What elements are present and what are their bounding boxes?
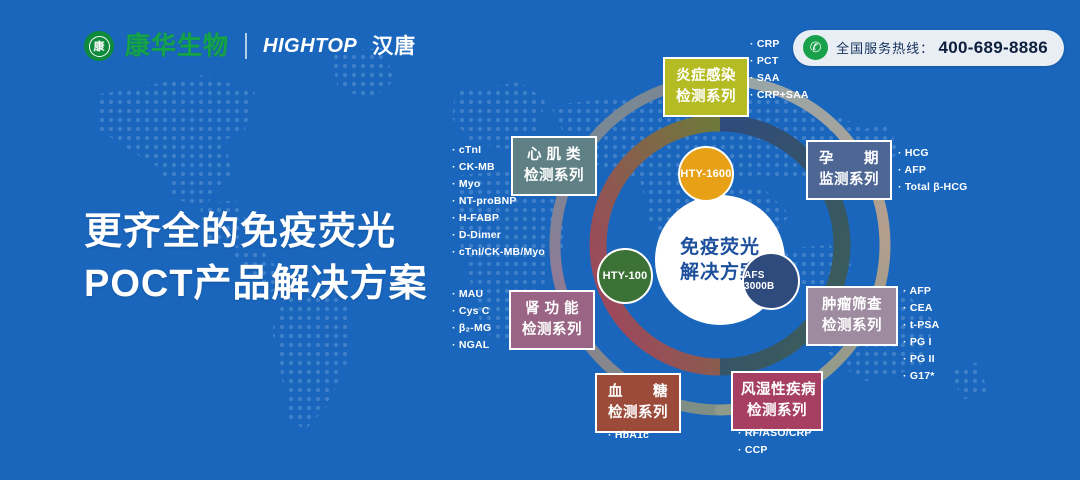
category-box-kidney[interactable]: 肾 功 能 检测系列	[509, 290, 595, 350]
brand-name-cn: 康华生物	[125, 34, 229, 59]
category-pregnancy-line-1: 孕 期	[816, 149, 882, 170]
list-item: Cys C	[452, 303, 491, 320]
device-node-hty-1600[interactable]: HTY-1600	[678, 146, 734, 202]
list-item: SAA	[750, 70, 809, 87]
item-list-kidney: MAUCys Cβ₂-MGNGAL	[452, 286, 491, 354]
device-label-afs-3000b: AFS 3000B	[744, 270, 798, 292]
logo-divider	[245, 33, 247, 59]
list-item: Myo	[452, 176, 545, 193]
item-list-tumor: AFPCEAt-PSAPG IPG IIG17*	[903, 283, 939, 385]
list-item: PCT	[750, 53, 809, 70]
list-item: β₂-MG	[452, 320, 491, 337]
category-glucose-line-2: 检测系列	[605, 403, 671, 424]
category-pregnancy-line-2: 监测系列	[816, 170, 882, 191]
list-item: AFP	[898, 162, 968, 179]
list-item: NGAL	[452, 337, 491, 354]
list-item: CEA	[903, 300, 939, 317]
list-item: AFP	[903, 283, 939, 300]
list-item: HCG	[898, 145, 968, 162]
headline-line-2: POCT产品解决方案	[84, 258, 428, 310]
brand-name-en-cn: 汉唐	[372, 36, 416, 57]
category-kidney-line-2: 检测系列	[519, 320, 585, 341]
item-list-pregnancy: HCGAFPTotal β-HCG	[898, 145, 968, 196]
category-box-glucose[interactable]: 血 糖 检测系列	[595, 373, 681, 433]
list-item: cTnI/CK-MB/Myo	[452, 244, 545, 261]
category-glucose-line-1: 血 糖	[605, 382, 671, 403]
list-item: G17*	[903, 368, 939, 385]
item-list-inflammation: CRPPCTSAACRP+SAA	[750, 36, 809, 104]
category-box-inflammation[interactable]: 炎症感染 检测系列	[663, 57, 749, 117]
device-node-afs-3000b[interactable]: AFS 3000B	[742, 252, 800, 310]
list-item: NT-proBNP	[452, 193, 545, 210]
device-label-hty-100: HTY-100	[603, 270, 648, 282]
device-label-hty-1600: HTY-1600	[680, 168, 731, 180]
kanghua-circle-logo-icon: 康	[84, 31, 114, 61]
category-tumor-line-1: 肿瘤筛查	[816, 295, 888, 316]
list-item: t-PSA	[903, 317, 939, 334]
device-node-hty-100[interactable]: HTY-100	[597, 248, 653, 304]
list-item: CK-MB	[452, 159, 545, 176]
list-item: MAU	[452, 286, 491, 303]
list-item: Total β-HCG	[898, 179, 968, 196]
headline-line-1: 更齐全的免疫荧光	[84, 206, 428, 258]
category-inflammation-line-2: 检测系列	[673, 87, 739, 108]
category-box-rheumatic[interactable]: 风湿性疾病 检测系列	[731, 371, 823, 431]
list-item: RF/ASO/CRP	[738, 425, 812, 442]
category-tumor-line-2: 检测系列	[816, 316, 888, 337]
page-title: 更齐全的免疫荧光 POCT产品解决方案	[84, 206, 428, 311]
list-item: PG I	[903, 334, 939, 351]
list-item: CCP	[738, 442, 812, 459]
list-item: PG II	[903, 351, 939, 368]
category-kidney-line-1: 肾 功 能	[519, 299, 585, 320]
item-list-rheumatic: RF/ASO/CRPCCP	[738, 425, 812, 459]
category-inflammation-line-1: 炎症感染	[673, 66, 739, 87]
list-item: D-Dimer	[452, 227, 545, 244]
category-rheumatic-line-2: 检测系列	[741, 401, 813, 422]
list-item: CRP+SAA	[750, 87, 809, 104]
list-item: cTnI	[452, 142, 545, 159]
category-box-tumor[interactable]: 肿瘤筛查 检测系列	[806, 286, 898, 346]
list-item: HbA1c	[608, 427, 649, 444]
brand-logo: 康 康华生物 HIGHTOP 汉唐	[84, 27, 416, 65]
category-rheumatic-line-1: 风湿性疾病	[741, 380, 813, 401]
poster-root: 康 康华生物 HIGHTOP 汉唐 ✆ 全国服务热线： 400-689-8886…	[0, 0, 1080, 480]
list-item: H-FABP	[452, 210, 545, 227]
category-box-pregnancy[interactable]: 孕 期 监测系列	[806, 140, 892, 200]
item-list-glucose: HbA1c	[608, 427, 649, 444]
center-line-1: 免疫荧光	[680, 235, 760, 260]
brand-name-en: HIGHTOP	[263, 36, 357, 56]
item-list-cardiac: cTnICK-MBMyoNT-proBNPH-FABPD-DimercTnI/C…	[452, 142, 545, 261]
list-item: CRP	[750, 36, 809, 53]
